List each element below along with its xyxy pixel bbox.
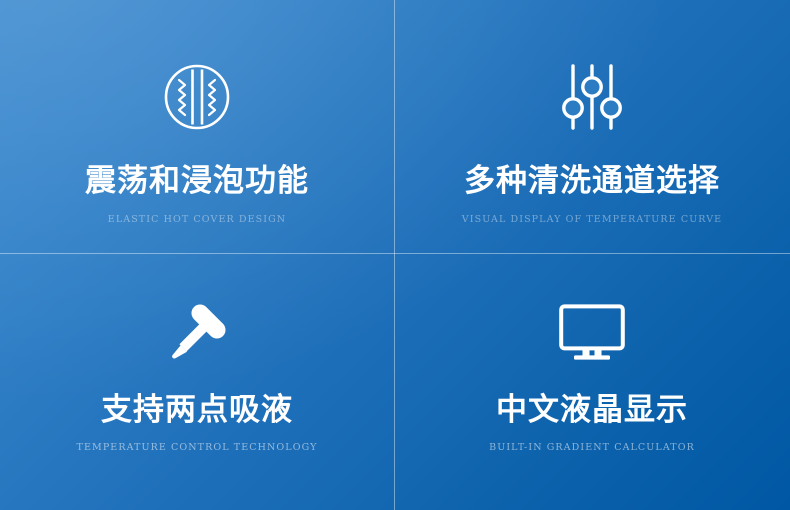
- feature-cell-wash-channels[interactable]: 多种清洗通道选择 VISUAL DISPLAY OF TEMPERATURE C…: [394, 0, 790, 253]
- sliders-equalizer-icon: [549, 54, 635, 140]
- feature-title: 支持两点吸液: [101, 395, 293, 426]
- feature-title: 中文液晶显示: [496, 395, 688, 426]
- feature-cell-oscillation[interactable]: 震荡和浸泡功能 ELASTIC HOT COVER DESIGN: [0, 0, 394, 253]
- feature-subtitle: ELASTIC HOT COVER DESIGN: [108, 214, 286, 225]
- feature-title: 多种清洗通道选择: [464, 166, 720, 197]
- feature-grid: 震荡和浸泡功能 ELASTIC HOT COVER DESIGN 多种清洗通道选…: [0, 0, 790, 510]
- feature-subtitle: TEMPERATURE CONTROL TECHNOLOGY: [77, 442, 318, 453]
- vertical-divider: [394, 0, 395, 510]
- pipette-dropper-icon: [154, 295, 240, 371]
- feature-title: 震荡和浸泡功能: [85, 166, 309, 197]
- feature-cell-lcd-display[interactable]: 中文液晶显示 BUILT-IN GRADIENT CALCULATOR: [394, 253, 790, 510]
- feature-subtitle: BUILT-IN GRADIENT CALCULATOR: [489, 442, 695, 453]
- monitor-display-icon: [549, 295, 635, 371]
- feature-cell-aspiration[interactable]: 支持两点吸液 TEMPERATURE CONTROL TECHNOLOGY: [0, 253, 394, 510]
- feature-subtitle: VISUAL DISPLAY OF TEMPERATURE CURVE: [462, 214, 722, 225]
- feature-grid-banner: 震荡和浸泡功能 ELASTIC HOT COVER DESIGN 多种清洗通道选…: [0, 0, 790, 510]
- oscillation-circle-icon: [154, 54, 240, 140]
- horizontal-divider: [0, 253, 790, 254]
